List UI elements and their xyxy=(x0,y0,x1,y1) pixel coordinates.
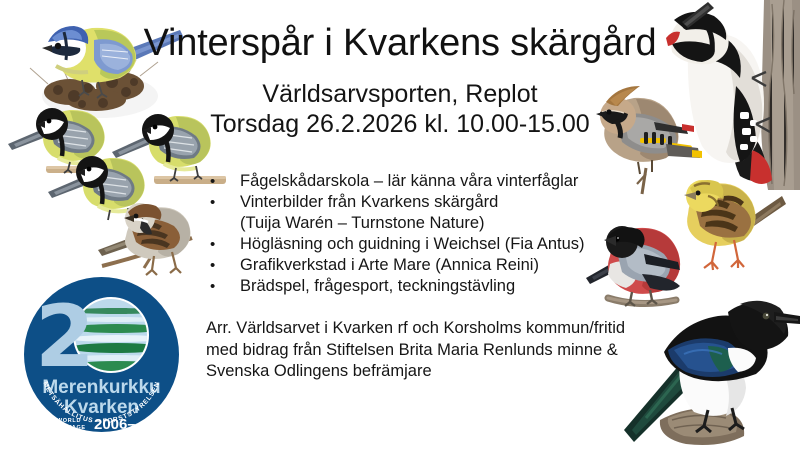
list-item: • Grafikverkstad i Arte Mare (Annica Rei… xyxy=(206,255,626,276)
list-item-label: (Tuija Warén – Turnstone Nature) xyxy=(240,213,626,234)
logo-arc-text: METSÄHALLITUS – FORSTSTYRELSEN xyxy=(24,277,179,432)
list-item-label: Brädspel, frågesport, teckningstävling xyxy=(240,276,626,297)
credit-line-1: Arr. Världsarvet i Kvarken rf och Korsho… xyxy=(206,318,666,340)
metsahallitus-arc-label: METSÄHALLITUS – FORSTSTYRELSEN xyxy=(41,381,161,426)
organizer-credits: Arr. Världsarvet i Kvarken rf och Korsho… xyxy=(206,318,666,383)
list-item-continuation: • (Tuija Warén – Turnstone Nature) xyxy=(206,213,626,234)
poster-canvas: Vinterspår i Kvarkens skärgård Världsarv… xyxy=(0,0,800,450)
credit-line-3: Svenska Odlingens befrämjare xyxy=(206,361,666,383)
list-item: • Brädspel, frågesport, teckningstävling xyxy=(206,276,626,297)
list-item-label: Grafikverkstad i Arte Mare (Annica Reini… xyxy=(240,255,626,276)
page-title: Vinterspår i Kvarkens skärgård xyxy=(0,24,800,64)
list-item-label: Vinterbilder från Kvarkens skärgård xyxy=(240,192,626,213)
kvarken-world-heritage-logo: 2 Merenkurkku Kvarken WORLD HERITAGE SIT… xyxy=(24,277,179,432)
bullet-marker: • xyxy=(206,276,240,297)
list-item: • Fågelskådarskola – lär känna våra vint… xyxy=(206,171,626,192)
list-item-label: Fågelskådarskola – lär känna våra vinter… xyxy=(240,171,626,192)
program-list: • Fågelskådarskola – lär känna våra vint… xyxy=(206,171,626,297)
subtitle-datetime: Torsdag 26.2.2026 kl. 10.00-15.00 xyxy=(0,110,800,139)
list-item: • Vinterbilder från Kvarkens skärgård xyxy=(206,192,626,213)
bullet-marker: • xyxy=(206,192,240,213)
bullet-marker: • xyxy=(206,234,240,255)
subtitle-place: Världsarvsporten, Replot xyxy=(0,80,800,109)
credit-line-2: med bidrag från Stiftelsen Brita Maria R… xyxy=(206,340,666,362)
bullet-marker: • xyxy=(206,171,240,192)
bullet-marker: • xyxy=(206,255,240,276)
list-item-label: Högläsning och guidning i Weichsel (Fia … xyxy=(240,234,626,255)
list-item: • Högläsning och guidning i Weichsel (Fi… xyxy=(206,234,626,255)
